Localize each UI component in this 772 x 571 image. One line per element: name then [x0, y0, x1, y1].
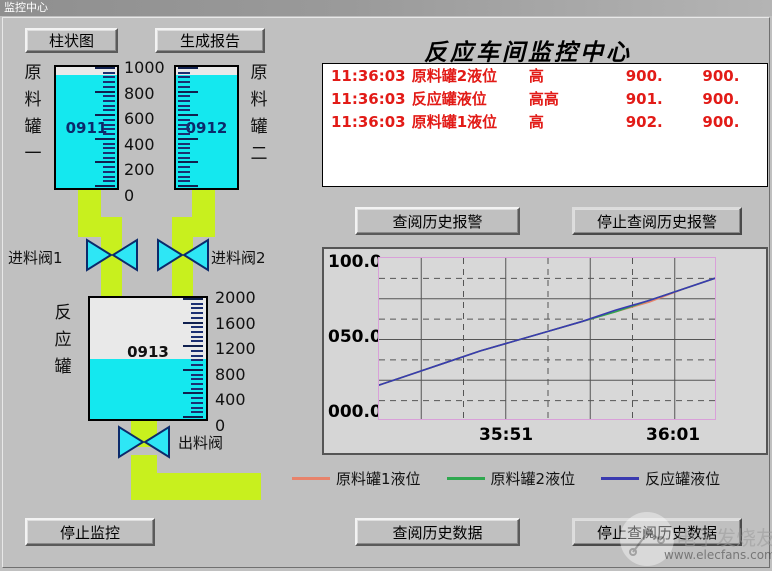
alarm-time: 11:36:03 — [331, 90, 412, 108]
scale-tick-label: 800 — [215, 365, 246, 384]
alarm-level: 高 — [529, 111, 626, 132]
scale-tick-label: 1600 — [215, 314, 256, 333]
reactor-label: 反应罐 — [52, 300, 74, 381]
y-tick-label-top: 100.0 — [328, 252, 382, 272]
tank2-label: 原料罐二 — [248, 60, 270, 168]
window-title: 监控中心 — [4, 1, 48, 14]
bar-chart-button[interactable]: 柱状图 — [25, 28, 118, 53]
trend-lines — [379, 258, 716, 420]
legend-item: 反应罐液位 — [601, 468, 720, 489]
alarm-tag: 原料罐2液位 — [412, 65, 529, 86]
alarm-tag: 原料罐1液位 — [412, 111, 529, 132]
chart-legend: 原料罐1液位 原料罐2液位 反应罐液位 — [292, 468, 746, 489]
legend-swatch — [447, 477, 485, 480]
legend-label: 原料罐2液位 — [491, 468, 576, 489]
reactor-vessel: 0913 — [88, 296, 208, 421]
alarm-row[interactable]: 11:36:03 原料罐2液位 高 900. 900. — [323, 64, 767, 87]
page-title: 反应车间监控中心 — [424, 33, 632, 67]
legend-swatch — [292, 477, 330, 480]
y-tick-label-bottom: 000.0 — [328, 402, 382, 422]
scale-tick-label: 200 — [124, 160, 155, 179]
feed-valve-2-label: 进料阀2 — [211, 247, 266, 268]
monitoring-center-window: 监控中心 柱状图 生成报告 反应车间监控中心 11:36:03 原料罐2液位 高… — [0, 0, 772, 571]
pipe-discharge-horizontal — [131, 473, 261, 500]
scale-tick-label: 1000 — [124, 58, 165, 77]
scale-tick-label: 2000 — [215, 288, 256, 307]
view-history-alarm-button[interactable]: 查阅历史报警 — [355, 207, 520, 235]
alarm-time: 11:36:03 — [331, 67, 412, 85]
tank1-vessel: 0911 — [54, 65, 119, 190]
x-tick-label-1: 35:51 — [479, 425, 533, 445]
trend-chart: 100.0 050.0 000.0 35:51 36:01 — [322, 247, 768, 455]
alarm-row[interactable]: 11:36:03 反应罐液位 高高 901. 900. — [323, 87, 767, 110]
feed-valve-2-icon[interactable] — [157, 238, 209, 272]
alarm-value: 901. — [626, 90, 703, 108]
plot-area — [378, 257, 716, 420]
scale-tick-label: 800 — [124, 84, 155, 103]
alarm-level: 高高 — [529, 88, 626, 109]
scale-tick-label: 600 — [124, 109, 155, 128]
tank2-vessel: 0912 — [174, 65, 239, 190]
legend-item: 原料罐1液位 — [292, 468, 421, 489]
alarm-limit: 900. — [702, 67, 767, 85]
alarm-time: 11:36:03 — [331, 113, 412, 131]
alarm-list[interactable]: 11:36:03 原料罐2液位 高 900. 900. 11:36:03 反应罐… — [322, 63, 768, 187]
stop-history-alarm-button[interactable]: 停止查阅历史报警 — [572, 207, 742, 235]
stop-history-data-button[interactable]: 停止查阅历史数据 — [572, 518, 742, 546]
discharge-valve-icon[interactable] — [118, 425, 170, 459]
alarm-limit: 900. — [702, 113, 767, 131]
reactor-scale-numbers: 2000160012008004000 — [215, 288, 265, 428]
reactor-ticks — [179, 298, 203, 419]
window-titlebar: 监控中心 — [0, 0, 772, 16]
scale-tick-label: 400 — [215, 390, 246, 409]
legend-item: 原料罐2液位 — [447, 468, 576, 489]
discharge-valve-label: 出料阀 — [178, 432, 223, 453]
y-tick-label-mid: 050.0 — [328, 327, 382, 347]
legend-swatch — [601, 477, 639, 480]
tank-scale-numbers: 10008006004002000 — [124, 58, 170, 198]
alarm-row[interactable]: 11:36:03 原料罐1液位 高 902. 900. — [323, 110, 767, 133]
scale-tick-label: 400 — [124, 135, 155, 154]
generate-report-button[interactable]: 生成报告 — [155, 28, 265, 53]
legend-label: 原料罐1液位 — [336, 468, 421, 489]
pipe-tank2-down — [192, 190, 215, 220]
tank1-ticks — [93, 67, 115, 188]
alarm-value: 902. — [626, 113, 703, 131]
alarm-limit: 900. — [702, 90, 767, 108]
scale-tick-label: 1200 — [215, 339, 256, 358]
pipe-tank1-down — [78, 190, 101, 220]
feed-valve-1-icon[interactable] — [86, 238, 138, 272]
tank1-label: 原料罐一 — [22, 60, 44, 168]
feed-valve-1-label: 进料阀1 — [8, 247, 63, 268]
scale-tick-label: 0 — [124, 186, 134, 205]
alarm-tag: 反应罐液位 — [412, 88, 529, 109]
x-tick-label-2: 36:01 — [646, 425, 700, 445]
view-history-data-button[interactable]: 查阅历史数据 — [355, 518, 520, 546]
alarm-value: 900. — [626, 67, 703, 85]
tank2-ticks — [178, 67, 200, 188]
legend-label: 反应罐液位 — [645, 468, 720, 489]
alarm-level: 高 — [529, 65, 626, 86]
stop-monitor-button[interactable]: 停止监控 — [25, 518, 155, 546]
